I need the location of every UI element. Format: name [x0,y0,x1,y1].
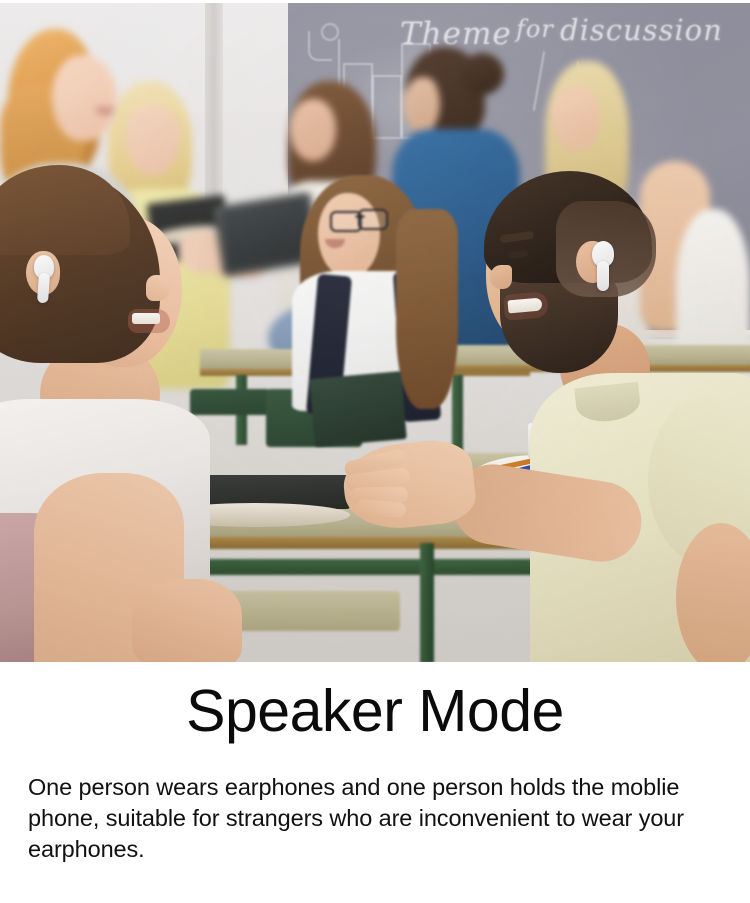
product-feature-page: Theme for discussion [0,0,750,903]
chair-back [190,389,270,415]
nose [490,265,512,289]
face [126,103,180,175]
chalk-chart-bar [372,75,402,139]
green-book [309,371,407,447]
chalkboard-word-discussion: discussion [560,13,723,47]
page-title: Speaker Mode [0,678,750,744]
eyeglasses-right-lens [358,209,388,230]
earbud-stem [597,261,609,291]
desk-leg [420,543,434,662]
face [290,99,336,161]
hair-bun [460,53,504,95]
face [52,55,116,141]
description-text: One person wears earphones and one perso… [28,772,718,865]
chalkboard-word-for: for [516,15,554,43]
face [552,85,600,151]
chalk-sketch-fragment [321,23,339,41]
hero-photo: Theme for discussion [0,3,750,662]
top-white-strip [0,0,750,3]
face [404,77,440,133]
earbud-stem [37,273,50,304]
desk-leg [452,375,463,451]
teeth [132,313,160,324]
eyeglasses-bridge [355,215,365,218]
hand [132,579,242,662]
chalk-sketch-fragment [533,51,545,110]
face [318,193,380,277]
caption-block: Speaker Mode One person wears earphones … [0,662,750,903]
hair-strand [396,209,458,409]
nose [146,275,170,301]
